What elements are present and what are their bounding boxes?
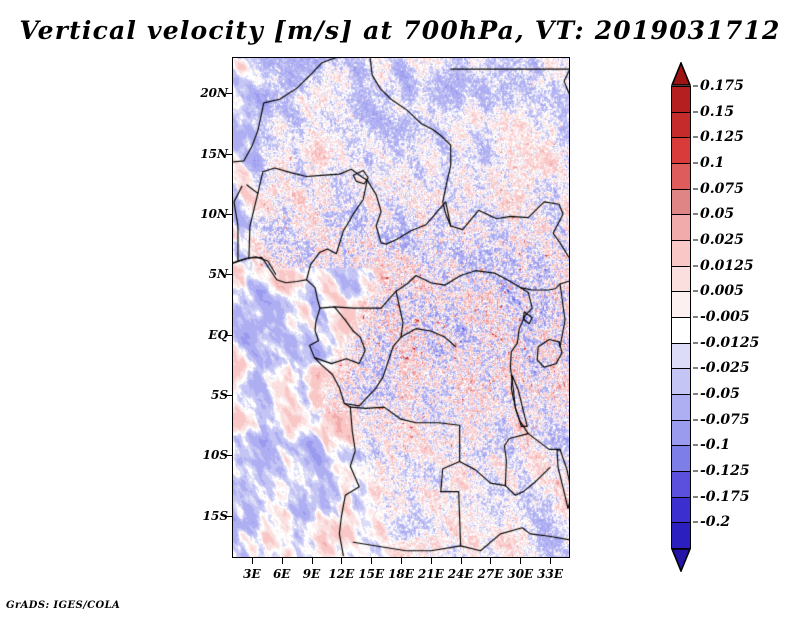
colorbar-band	[671, 497, 691, 524]
colorbar-tick-label: -0.025	[700, 360, 750, 376]
colorbar-band	[671, 522, 691, 549]
colorbar-tick-label: -0.0125	[700, 335, 759, 351]
colorbar-band	[671, 86, 691, 113]
lat-tick-label: EQ	[190, 328, 228, 342]
lon-tick-label: 12E	[328, 567, 354, 581]
lon-tick-mark	[371, 558, 372, 564]
lon-tick-mark	[461, 558, 462, 564]
colorbar-tick-label: -0.005	[700, 309, 750, 325]
colorbar-top-arrow	[671, 62, 691, 84]
colorbar-tick-label: 0.175	[700, 78, 744, 94]
lat-tick-label: 15S	[190, 509, 228, 523]
lon-tick-label: 6E	[273, 567, 291, 581]
map-panel	[232, 57, 570, 558]
colorbar-tick-label: -0.075	[700, 412, 750, 428]
colorbar-tick-label: 0.075	[700, 181, 744, 197]
colorbar-band	[671, 471, 691, 498]
colorbar-tick-label: 0.15	[700, 104, 734, 120]
lat-tick-label: 10N	[190, 207, 228, 221]
colorbar-tick-mark	[693, 317, 698, 318]
colorbar-tick-label: -0.2	[700, 514, 730, 530]
colorbar-tick-mark	[693, 240, 698, 241]
lat-tick-mark	[226, 154, 232, 155]
colorbar-tick-mark	[693, 342, 698, 343]
lon-tick-label: 9E	[303, 567, 321, 581]
colorbar	[671, 62, 691, 572]
lon-tick-mark	[520, 558, 521, 564]
colorbar-tick-mark	[693, 368, 698, 369]
lon-tick-mark	[550, 558, 551, 564]
lat-tick-mark	[226, 455, 232, 456]
colorbar-tick-label: 0.1	[700, 155, 724, 171]
colorbar-tick-mark	[693, 137, 698, 138]
colorbar-tick-label: 0.05	[700, 206, 734, 222]
lat-tick-label: 5N	[190, 267, 228, 281]
colorbar-tick-label: -0.05	[700, 386, 740, 402]
colorbar-tick-mark	[693, 188, 698, 189]
colorbar-tick-label: 0.025	[700, 232, 744, 248]
colorbar-tick-mark	[693, 214, 698, 215]
colorbar-band	[671, 240, 691, 267]
lon-tick-label: 33E	[537, 567, 563, 581]
lon-tick-label: 27E	[478, 567, 504, 581]
colorbar-band	[671, 137, 691, 164]
colorbar-tick-mark	[693, 471, 698, 472]
colorbar-tick-mark	[693, 111, 698, 112]
colorbar-band	[671, 420, 691, 447]
colorbar-tick-label: 0.125	[700, 129, 744, 145]
lat-tick-mark	[226, 274, 232, 275]
colorbar-tick-mark	[693, 496, 698, 497]
lon-tick-mark	[312, 558, 313, 564]
lat-tick-label: 15N	[190, 147, 228, 161]
lat-tick-mark	[226, 93, 232, 94]
colorbar-tick-label: 0.005	[700, 283, 744, 299]
colorbar-tick-label: -0.1	[700, 437, 730, 453]
lon-tick-label: 30E	[507, 567, 533, 581]
colorbar-tick-mark	[693, 445, 698, 446]
colorbar-band	[671, 291, 691, 318]
colorbar-band	[671, 343, 691, 370]
colorbar-tick-mark	[693, 522, 698, 523]
colorbar-band	[671, 317, 691, 344]
colorbar-tick-label: 0.0125	[700, 258, 754, 274]
lon-tick-mark	[401, 558, 402, 564]
colorbar-band	[671, 368, 691, 395]
colorbar-band	[671, 445, 691, 472]
page-title: Vertical velocity [m/s] at 700hPa, VT: 2…	[0, 16, 800, 45]
colorbar-tick-mark	[693, 163, 698, 164]
lon-tick-label: 18E	[388, 567, 414, 581]
colorbar-band	[671, 163, 691, 190]
colorbar-tick-mark	[693, 419, 698, 420]
grads-plot-page: Vertical velocity [m/s] at 700hPa, VT: 2…	[0, 0, 800, 618]
lon-tick-label: 15E	[358, 567, 384, 581]
lon-tick-mark	[282, 558, 283, 564]
lon-tick-mark	[431, 558, 432, 564]
lat-tick-mark	[226, 214, 232, 215]
lat-tick-mark	[226, 516, 232, 517]
lon-tick-mark	[490, 558, 491, 564]
colorbar-tick-mark	[693, 265, 698, 266]
footer-credit: GrADS: IGES/COLA	[6, 600, 120, 611]
lat-tick-label: 5S	[190, 388, 228, 402]
lon-tick-mark	[252, 558, 253, 564]
lat-tick-mark	[226, 335, 232, 336]
colorbar-band	[671, 189, 691, 216]
colorbar-band	[671, 112, 691, 139]
colorbar-tick-mark	[693, 394, 698, 395]
colorbar-tick-mark	[693, 86, 698, 87]
colorbar-band	[671, 214, 691, 241]
colorbar-band	[671, 394, 691, 421]
lat-tick-label: 10S	[190, 448, 228, 462]
colorbar-band	[671, 266, 691, 293]
vertical-velocity-heatmap	[232, 57, 570, 558]
lon-tick-label: 21E	[418, 567, 444, 581]
colorbar-bottom-arrow	[671, 548, 691, 570]
lon-tick-label: 24E	[448, 567, 474, 581]
colorbar-tick-mark	[693, 291, 698, 292]
lon-tick-label: 3E	[243, 567, 261, 581]
colorbar-tick-label: -0.175	[700, 489, 750, 505]
lat-tick-label: 20N	[190, 86, 228, 100]
lat-tick-mark	[226, 395, 232, 396]
lon-tick-mark	[341, 558, 342, 564]
colorbar-tick-label: -0.125	[700, 463, 750, 479]
